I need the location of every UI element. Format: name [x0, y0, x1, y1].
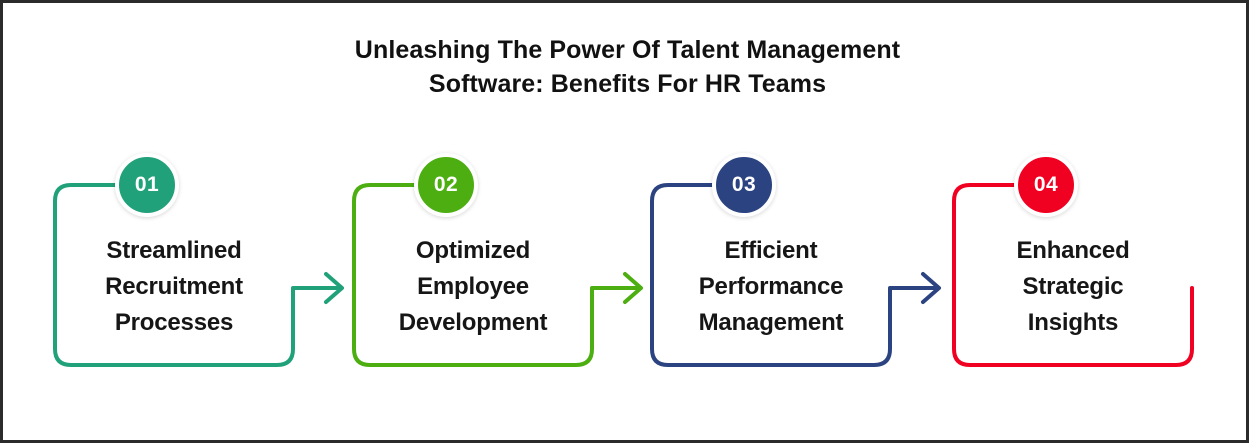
step-number-04: 04 — [1034, 173, 1058, 197]
step-label-04-line-1: Enhanced — [954, 233, 1192, 269]
step-label-03-line-1: Efficient — [652, 233, 890, 269]
step-number-badge-03[interactable]: 03 — [712, 153, 776, 217]
step-number-01: 01 — [135, 173, 159, 197]
step-label-01-line-3: Processes — [55, 305, 293, 341]
step-label-03-line-2: Performance — [652, 269, 890, 305]
step-label-04-line-2: Strategic — [954, 269, 1192, 305]
step-label-01-line-1: Streamlined — [55, 233, 293, 269]
step-label-02: Optimized Employee Development — [354, 233, 592, 341]
step-number-02: 02 — [434, 173, 458, 197]
process-flow-diagram — [3, 3, 1249, 443]
step-label-02-line-3: Development — [354, 305, 592, 341]
step-label-02-line-2: Employee — [354, 269, 592, 305]
step-label-04: Enhanced Strategic Insights — [954, 233, 1192, 341]
step-number-badge-02[interactable]: 02 — [414, 153, 478, 217]
step-label-02-line-1: Optimized — [354, 233, 592, 269]
step-number-03: 03 — [732, 173, 756, 197]
step-label-03: Efficient Performance Management — [652, 233, 890, 341]
step-label-01-line-2: Recruitment — [55, 269, 293, 305]
step-label-03-line-3: Management — [652, 305, 890, 341]
step-label-04-line-3: Insights — [954, 305, 1192, 341]
step-number-badge-01[interactable]: 01 — [115, 153, 179, 217]
step-number-badge-04[interactable]: 04 — [1014, 153, 1078, 217]
infographic-canvas: Unleashing The Power Of Talent Managemen… — [0, 0, 1249, 443]
step-label-01: Streamlined Recruitment Processes — [55, 233, 293, 341]
